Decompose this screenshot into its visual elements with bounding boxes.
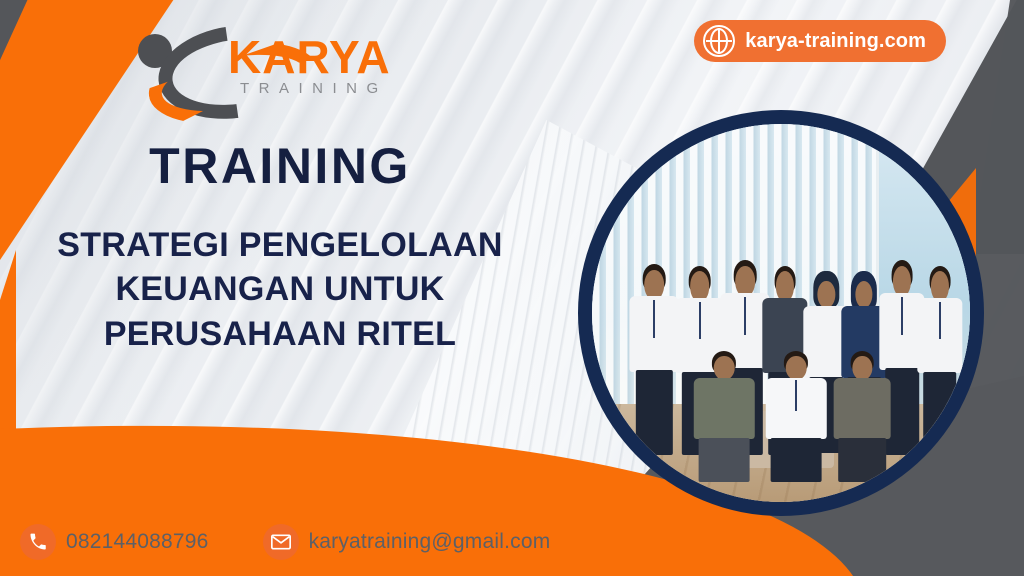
website-badge[interactable]: karya-training.com (694, 20, 946, 62)
headline-block: TRAINING STRATEGI PENGELOLAAN KEUANGAN U… (0, 140, 560, 357)
logo-tagline: TRAINING (240, 80, 388, 97)
course-title: STRATEGI PENGELOLAAN KEUANGAN UNTUK PERU… (0, 223, 560, 358)
course-title-line-3: PERUSAHAAN RITEL (0, 312, 560, 357)
photo-person (630, 264, 679, 453)
website-url-text: karya-training.com (745, 30, 926, 53)
page-title: TRAINING (0, 140, 560, 193)
photo-person (917, 264, 962, 453)
contact-bar: 082144088796 karyatraining@gmail.com (20, 524, 550, 560)
globe-icon (703, 25, 735, 57)
phone-icon (20, 524, 56, 560)
contact-email[interactable]: karyatraining@gmail.com (263, 524, 551, 560)
course-title-line-1: STRATEGI PENGELOLAAN (0, 223, 560, 268)
group-photo (592, 124, 970, 502)
phone-number: 082144088796 (66, 530, 209, 554)
email-address: karyatraining@gmail.com (309, 530, 551, 554)
karya-training-logo[interactable]: KARYA TRAINING (128, 22, 378, 98)
email-icon (263, 524, 299, 560)
course-title-line-2: KEUANGAN UNTUK (0, 267, 560, 312)
contact-phone[interactable]: 082144088796 (20, 524, 209, 560)
photo-person-seated (766, 351, 826, 480)
photo-person-seated (834, 351, 891, 480)
photo-person-seated (694, 351, 754, 480)
logo-wordmark: KARYA (228, 30, 391, 84)
photo-circle-frame (578, 110, 984, 516)
training-promo-banner: KARYA TRAINING karya-training.com TRAINI… (0, 0, 1024, 576)
